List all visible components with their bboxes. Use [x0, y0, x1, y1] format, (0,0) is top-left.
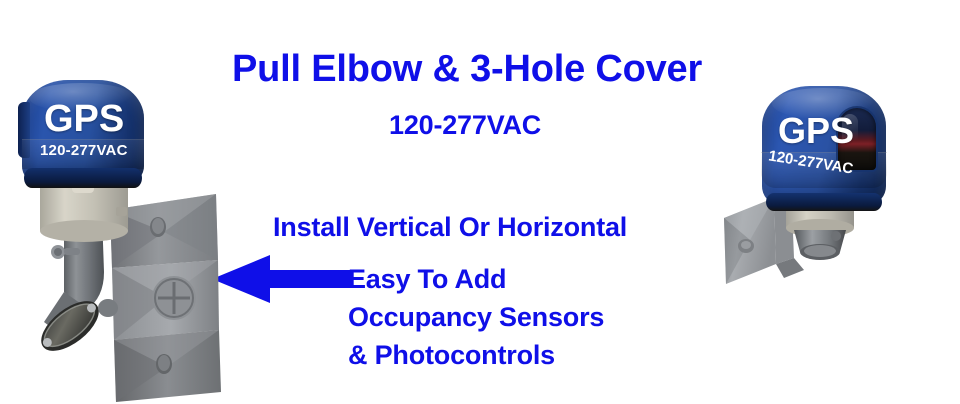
photocontrol-cap: GPS 120-277VAC	[762, 86, 886, 204]
page-title: Pull Elbow & 3-Hole Cover	[232, 48, 702, 91]
cap-brand-label: GPS	[44, 98, 124, 141]
feature-line-2: Occupancy Sensors	[348, 302, 604, 333]
photocontrol-cap: GPS 120-277VAC	[22, 80, 144, 182]
right-product-image: GPS 120-277VAC	[722, 84, 902, 309]
cap-brand-label: GPS	[778, 110, 854, 152]
cap-voltage-label: 120-277VAC	[40, 142, 128, 159]
voltage-subtitle: 120-277VAC	[389, 110, 541, 141]
left-product-image: GPS 120-277VAC	[8, 74, 223, 394]
feature-line-3: & Photocontrols	[348, 340, 555, 371]
feature-line-1: Easy To Add	[348, 264, 506, 295]
orientation-note: Install Vertical Or Horizontal	[273, 212, 627, 243]
left-arrow-icon	[212, 255, 352, 303]
promo-banner: Pull Elbow & 3-Hole Cover 120-277VAC Ins…	[0, 0, 960, 404]
